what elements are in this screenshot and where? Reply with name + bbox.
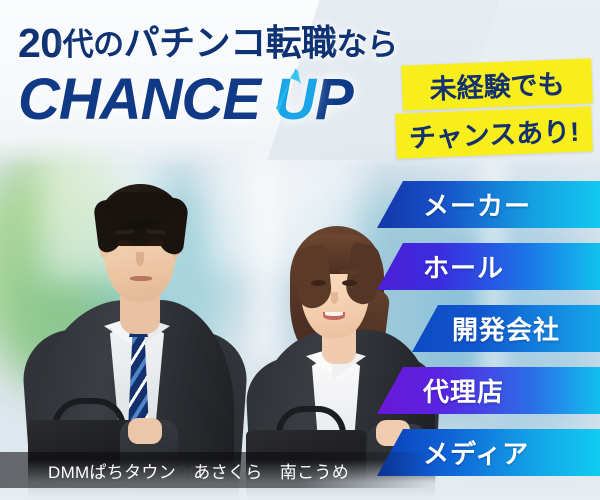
badge-chance-available: チャンスあり! bbox=[395, 106, 593, 158]
logo-letter-p: P bbox=[315, 67, 353, 132]
category-button-developer[interactable]: 開発会社 bbox=[412, 305, 600, 352]
woman-teeth bbox=[325, 312, 343, 316]
category-label: 開発会社 bbox=[452, 310, 560, 347]
headline-segment-1: 代の bbox=[63, 27, 124, 62]
man-eye-left bbox=[117, 240, 133, 246]
woman-fringe-left bbox=[293, 244, 333, 309]
category-label: ホール bbox=[423, 248, 504, 285]
man-mouth bbox=[130, 276, 152, 281]
man-hand bbox=[128, 418, 162, 444]
category-label: メーカー bbox=[423, 186, 531, 223]
headline-segment-3: なら bbox=[337, 27, 398, 62]
headline-segment-2: パチンコ転職 bbox=[124, 22, 337, 63]
category-button-maker[interactable]: メーカー bbox=[377, 181, 600, 228]
woman-eye-left bbox=[311, 280, 326, 286]
logo-word-chance: CHANCE bbox=[18, 67, 260, 132]
category-label: 代理店 bbox=[423, 372, 504, 409]
category-button-agency[interactable]: 代理店 bbox=[377, 367, 600, 414]
category-button-hall[interactable]: ホール bbox=[377, 243, 600, 290]
badge-no-experience: 未経験でも bbox=[401, 58, 593, 110]
man-nose bbox=[136, 252, 144, 266]
woman-eye-right bbox=[342, 280, 357, 286]
category-label: メディア bbox=[423, 434, 529, 471]
page-title: 20代のパチンコ転職なら bbox=[18, 14, 438, 67]
background-pillar-1 bbox=[252, 150, 278, 360]
badge-label: 未経験でも bbox=[429, 62, 565, 106]
recruitment-banner[interactable]: 20代のパチンコ転職なら CHANCEUP 未経験でも チャンスあり! メーカー… bbox=[0, 0, 600, 500]
logo-letter-u: U bbox=[274, 66, 315, 133]
headline-number: 20 bbox=[18, 20, 63, 66]
woman-nose bbox=[331, 292, 338, 304]
credit-text: DMMぱちタウン あさくら 南こうめ bbox=[48, 458, 349, 483]
badge-label: チャンスあり! bbox=[408, 110, 580, 156]
man-fringe bbox=[106, 192, 176, 220]
logo-chance-up: CHANCEUP bbox=[18, 66, 353, 133]
man-eye-right bbox=[148, 240, 164, 246]
